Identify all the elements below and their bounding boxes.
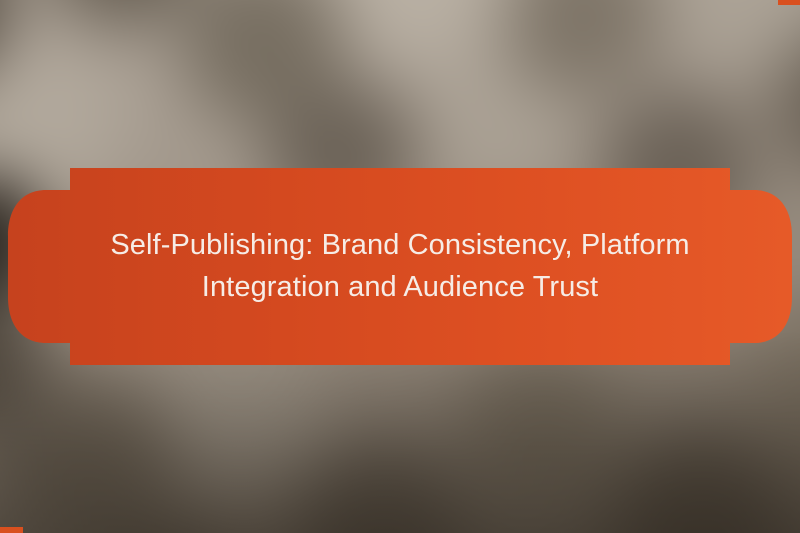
title-card: Self-Publishing: Brand Consistency, Plat… <box>0 0 800 533</box>
page-title: Self-Publishing: Brand Consistency, Plat… <box>0 168 800 365</box>
top-right-accent-strip <box>778 0 800 5</box>
bottom-left-accent-strip <box>0 527 23 533</box>
page-title-line-1: Self-Publishing: Brand Consistency, Plat… <box>110 225 689 267</box>
page-title-line-2: Integration and Audience Trust <box>202 267 598 309</box>
